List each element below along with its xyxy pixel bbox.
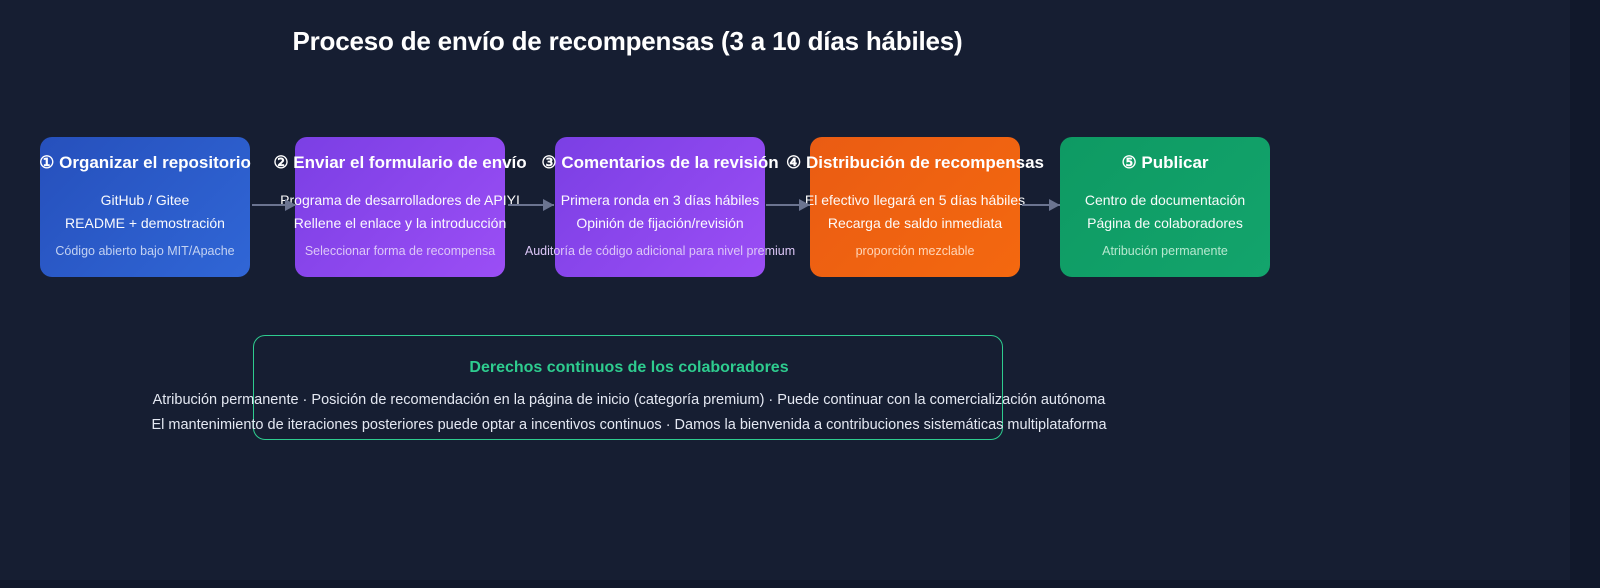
callout-title: Derechos continuos de los colaboradores [254, 359, 1004, 377]
flow-step-line1-3: Primera ronda en 3 días hábiles [561, 189, 759, 212]
flow-step-card-3[interactable]: ③ Comentarios de la revisión Primera ron… [555, 137, 765, 277]
flow-step-note-3: Auditoría de código adicional para nivel… [525, 241, 795, 261]
flow-step-title-4: ④ Distribución de recompensas [786, 153, 1044, 173]
flow-step-note-4: proporción mezclable [856, 241, 975, 261]
flow-arrow-4-to-5 [1022, 199, 1060, 211]
flow-step-note-2: Seleccionar forma de recompensa [305, 241, 495, 261]
flow-step-note-5: Atribución permanente [1102, 241, 1228, 261]
flow-step-note-1: Código abierto bajo MIT/Apache [55, 241, 234, 261]
flow-step-line1-1: GitHub / Gitee [101, 189, 190, 212]
diagram-canvas: Proceso de envío de recompensas (3 a 10 … [0, 0, 1570, 580]
flow-step-title-1: ① Organizar el repositorio [39, 153, 251, 173]
flow-step-card-4[interactable]: ④ Distribución de recompensas El efectiv… [810, 137, 1020, 277]
flow-step-line1-4: El efectivo llegará en 5 días hábiles [805, 189, 1025, 212]
flow-step-title-3: ③ Comentarios de la revisión [541, 153, 778, 173]
flow-arrow-1-to-2 [252, 199, 296, 211]
flow-step-line2-3: Opinión de fijación/revisión [576, 212, 743, 235]
flow-step-title-5: ⑤ Publicar [1121, 153, 1208, 173]
flow-step-card-2[interactable]: ② Enviar el formulario de envío Programa… [295, 137, 505, 277]
callout-line-2: El mantenimiento de iteraciones posterio… [0, 417, 1379, 433]
contributor-benefits-callout: Derechos continuos de los colaboradores … [253, 335, 1003, 440]
canvas-bottom-edge [0, 580, 1600, 588]
flow-arrow-3-to-4 [766, 199, 810, 211]
callout-line-1: Atribución permanente · Posición de reco… [0, 392, 1379, 408]
flow-step-line1-2: Programa de desarrolladores de APIYI [280, 189, 520, 212]
arrow-head-icon [1049, 199, 1060, 211]
flow-step-line2-4: Recarga de saldo inmediata [828, 212, 1002, 235]
flow-step-card-1[interactable]: ① Organizar el repositorio GitHub / Gite… [40, 137, 250, 277]
process-flow: ① Organizar el repositorio GitHub / Gite… [0, 0, 1570, 580]
flow-step-title-2: ② Enviar el formulario de envío [273, 153, 526, 173]
arrow-head-icon [543, 199, 554, 211]
flow-arrow-2-to-3 [508, 199, 554, 211]
flow-step-line2-5: Página de colaboradores [1087, 212, 1243, 235]
arrow-head-icon [799, 199, 810, 211]
flow-step-line2-1: README + demostración [65, 212, 225, 235]
flow-step-line1-5: Centro de documentación [1085, 189, 1245, 212]
flow-step-line2-2: Rellene el enlace y la introducción [294, 212, 506, 235]
arrow-head-icon [285, 199, 296, 211]
flow-step-card-5[interactable]: ⑤ Publicar Centro de documentación Págin… [1060, 137, 1270, 277]
canvas-right-edge [1570, 0, 1600, 588]
